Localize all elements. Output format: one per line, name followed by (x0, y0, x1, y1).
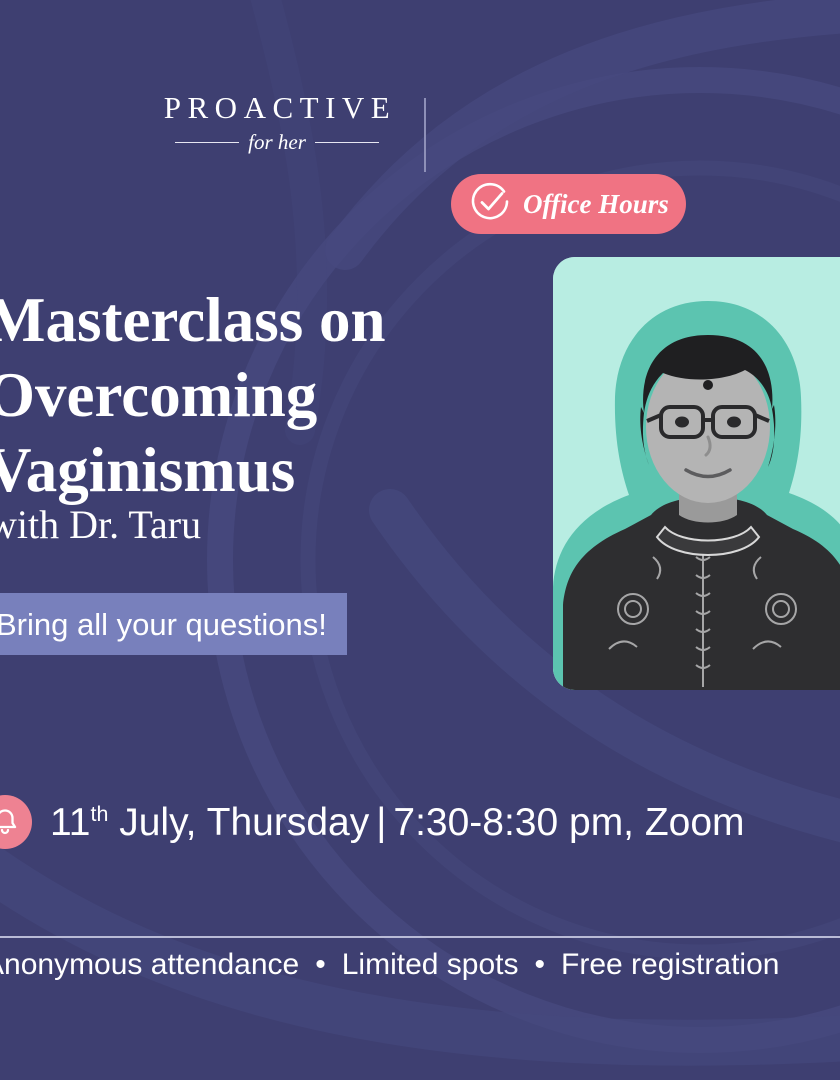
footer-item-free-registration: Free registration (561, 950, 779, 980)
event-datetime-text: 11th July, Thursday|7:30-8:30 pm, Zoom (50, 803, 745, 842)
event-day: 11 (50, 801, 91, 844)
brand-logo: PROACTIVE for her (146, 92, 408, 153)
poster-header: PROACTIVE for her Office Hours (0, 78, 840, 178)
tagline-rule-right (315, 142, 379, 143)
headline-line-2: Overcoming (0, 358, 546, 433)
header-divider (424, 98, 426, 172)
speaker-portrait-card (553, 257, 840, 690)
office-hours-badge: Office Hours (451, 174, 686, 234)
footer-divider (0, 936, 840, 938)
datetime-separator: | (369, 801, 393, 844)
footer-bullet-1: • (315, 950, 326, 980)
brand-tagline-group: for her (146, 132, 408, 153)
promo-poster: PROACTIVE for her Office Hours Mastercla… (0, 0, 840, 1080)
check-circle-icon (470, 181, 512, 228)
brand-tagline: for her (248, 132, 306, 153)
presenter-name: with Dr. Taru (0, 505, 201, 545)
speaker-photo (553, 257, 840, 690)
highlight-text: Bring all your questions! (0, 609, 327, 640)
event-time-platform: 7:30-8:30 pm, Zoom (393, 801, 744, 844)
event-month-weekday: July, Thursday (108, 801, 369, 844)
footer-item-anonymous: Anonymous attendance (0, 950, 299, 980)
bell-icon (0, 795, 32, 849)
highlight-banner: Bring all your questions! (0, 593, 347, 655)
headline-line-3: Vaginismus (0, 433, 546, 508)
event-datetime-row: 11th July, Thursday|7:30-8:30 pm, Zoom (0, 795, 745, 849)
tagline-rule-left (175, 142, 239, 143)
footer-benefits: Anonymous attendance • Limited spots • F… (0, 950, 840, 980)
footer-bullet-2: • (535, 950, 546, 980)
footer-item-limited-spots: Limited spots (342, 950, 519, 980)
headline-block: Masterclass on Overcoming Vaginismus (0, 283, 546, 508)
event-day-suffix: th (91, 802, 109, 826)
office-hours-label: Office Hours (523, 191, 669, 218)
brand-name: PROACTIVE (146, 92, 408, 123)
headline-line-1: Masterclass on (0, 283, 546, 358)
